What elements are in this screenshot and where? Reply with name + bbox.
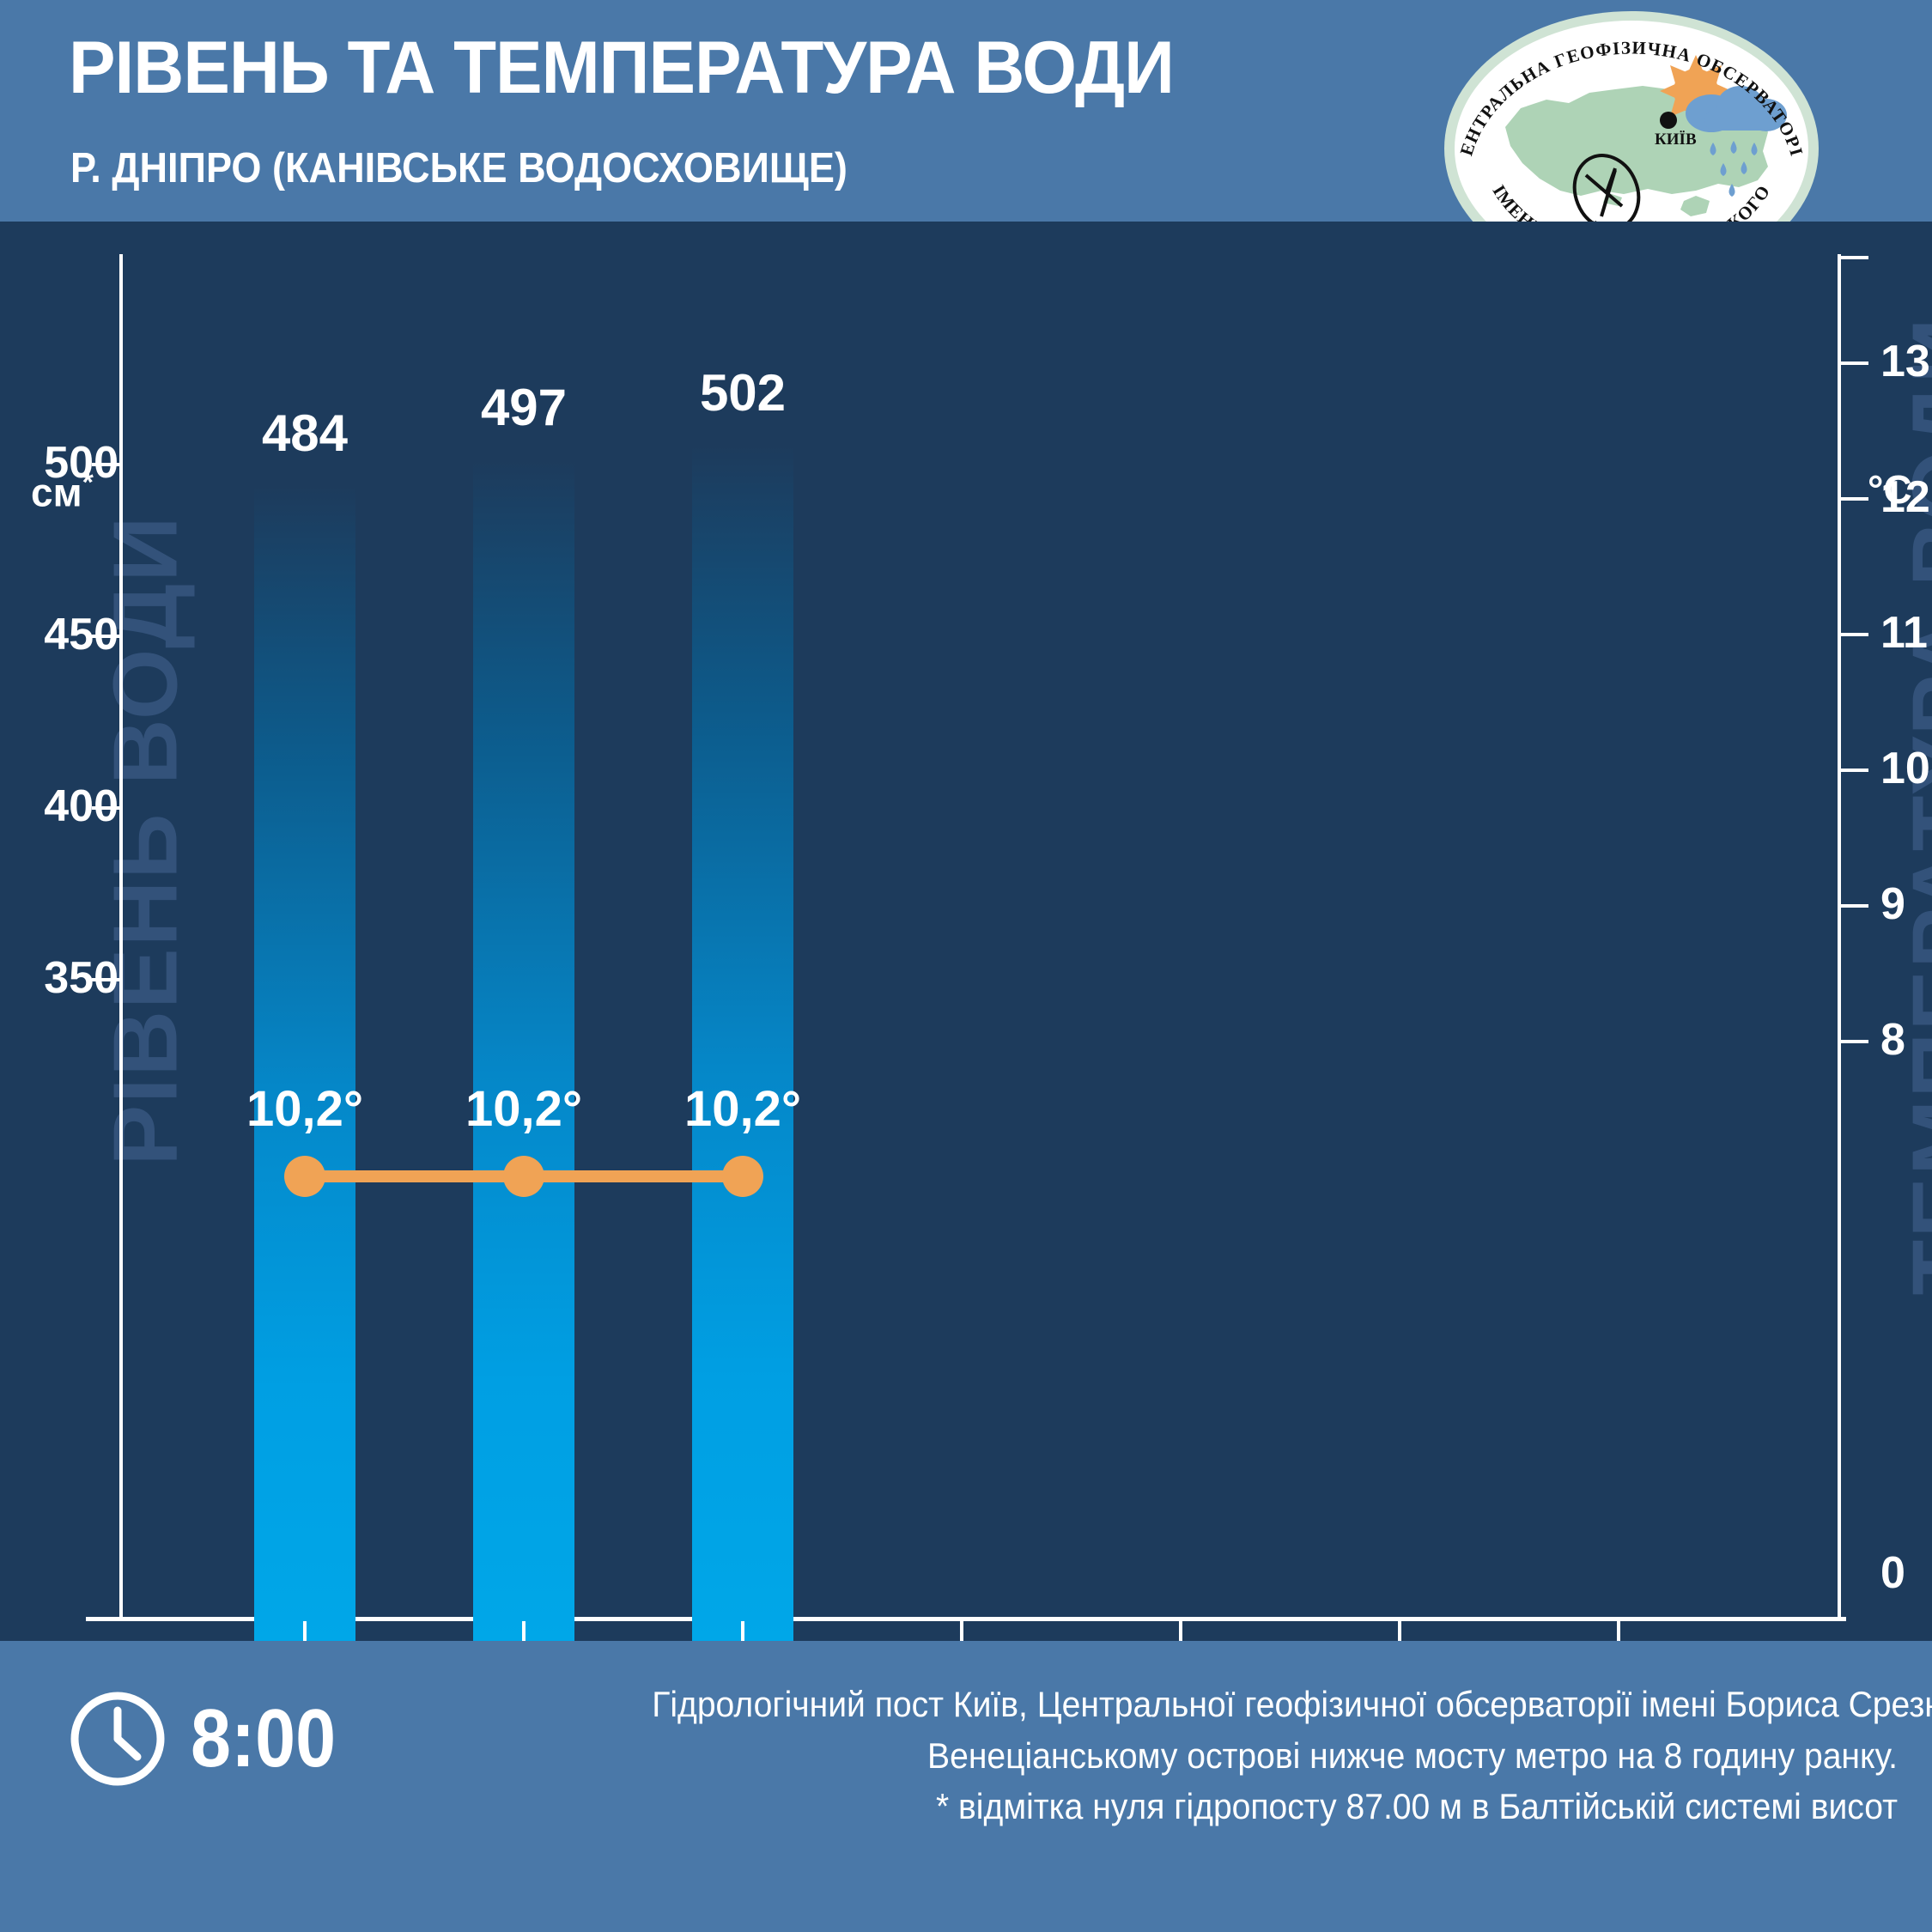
right-tick-12: [1841, 497, 1868, 501]
page-title: РІВЕНЬ ТА ТЕМПЕРАТУРА ВОДИ: [69, 26, 1174, 111]
right-tick-13: [1841, 361, 1868, 365]
bar-value-label-22: 502: [644, 363, 841, 422]
clock-icon: [67, 1688, 168, 1789]
bar-day-21[interactable]: [473, 460, 574, 1641]
temperature-point-20[interactable]: [284, 1156, 325, 1197]
observation-time: 8:00: [67, 1688, 355, 1789]
right-tick-8: [1841, 1040, 1868, 1043]
right-tick-label-12: 12: [1880, 471, 1932, 523]
footer-note: Гідрологічний пост Київ, Центральної гео…: [558, 1679, 1898, 1832]
right-tick-label-8: 8: [1880, 1014, 1932, 1066]
left-axis-watermark: РІВЕНЬ ВОДИ: [94, 471, 198, 1210]
footer-line-3: * відмітка нуля гідропосту 87.00 м в Бал…: [652, 1781, 1898, 1832]
right-tick-label-9: 9: [1880, 878, 1932, 930]
right-tick-label-0: 0: [1880, 1547, 1932, 1599]
page-footer: 8:00 Гідрологічний пост Київ, Центрально…: [0, 1641, 1932, 1932]
footer-line-2: Венеціанському острові нижче мосту метро…: [652, 1730, 1898, 1782]
right-tick-11: [1841, 633, 1868, 636]
bar-day-20[interactable]: [254, 486, 355, 1641]
temperature-label-20: 10,2°: [193, 1080, 416, 1138]
bar-value-label-20: 484: [206, 404, 404, 463]
right-tick-label-10: 10: [1880, 743, 1932, 794]
left-axis-line: [119, 254, 123, 1619]
right-tick-9: [1841, 904, 1868, 908]
right-tick-10: [1841, 769, 1868, 772]
chart-area: РІВЕНЬ ВОДИ ТЕМПЕРАТУРА ВОДИ см* °C 500 …: [0, 222, 1932, 1641]
right-tick-label-11: 11: [1880, 607, 1932, 659]
left-tick-label-450: 450: [0, 609, 118, 660]
page-subtitle: Р. ДНІПРО (КАНІВСЬКЕ ВОДОСХОВИЩЕ): [70, 144, 848, 192]
temperature-label-21: 10,2°: [412, 1080, 635, 1138]
footer-line-1: Гідрологічний пост Київ, Центральної гео…: [652, 1679, 1898, 1730]
left-tick-label-400: 400: [0, 781, 118, 832]
kyiv-marker-icon: [1660, 112, 1677, 129]
right-axis-line: [1838, 254, 1841, 1619]
temperature-label-22: 10,2°: [631, 1080, 854, 1138]
bar-day-22[interactable]: [692, 446, 793, 1641]
temperature-point-22[interactable]: [722, 1156, 763, 1197]
temperature-point-21[interactable]: [503, 1156, 544, 1197]
left-tick-label-500: 500: [0, 437, 118, 489]
right-tick-top: [1841, 256, 1868, 259]
kyiv-label: КИЇВ: [1655, 131, 1697, 149]
observation-time-label: 8:00: [191, 1698, 336, 1780]
right-tick-label-13: 13: [1880, 336, 1932, 387]
left-tick-label-350: 350: [0, 952, 118, 1004]
bar-value-label-21: 497: [425, 378, 623, 437]
